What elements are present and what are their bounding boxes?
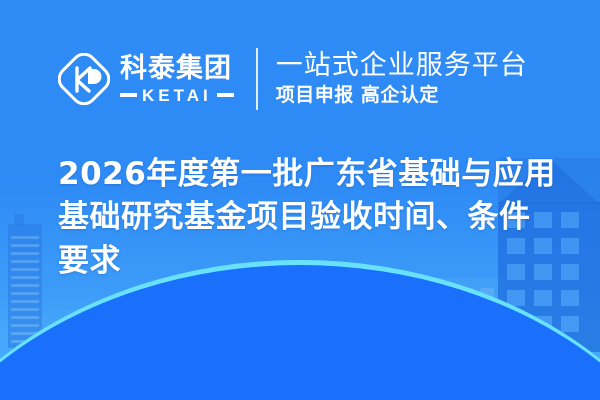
tagline-main: 一站式企业服务平台: [276, 51, 528, 81]
brand-dash-right-icon: [217, 93, 234, 97]
banner-header: 科泰集团 KETAI 一站式企业服务平台 项目申报 高企认定: [0, 40, 600, 118]
promo-banner: 科泰集团 KETAI 一站式企业服务平台 项目申报 高企认定 2026年度第一批…: [0, 0, 600, 400]
header-divider: [256, 48, 258, 110]
header-tagline: 一站式企业服务平台 项目申报 高企认定: [276, 51, 528, 108]
brand-name-en: KETAI: [142, 87, 212, 104]
brand-logo[interactable]: 科泰集团 KETAI: [58, 53, 234, 105]
ketai-kp-monogram-icon: [58, 53, 110, 105]
brand-name-en-row: KETAI: [120, 87, 234, 104]
tagline-sub: 项目申报 高企认定: [276, 84, 528, 108]
brand-dash-left-icon: [120, 93, 137, 97]
brand-name-cn: 科泰集团: [120, 55, 234, 82]
building-left-antenna: [14, 214, 24, 226]
page-title: 2026年度第一批广东省基础与应用基础研究基金项目验收时间、条件要求: [58, 153, 558, 283]
brand-logo-text: 科泰集团 KETAI: [120, 55, 234, 104]
